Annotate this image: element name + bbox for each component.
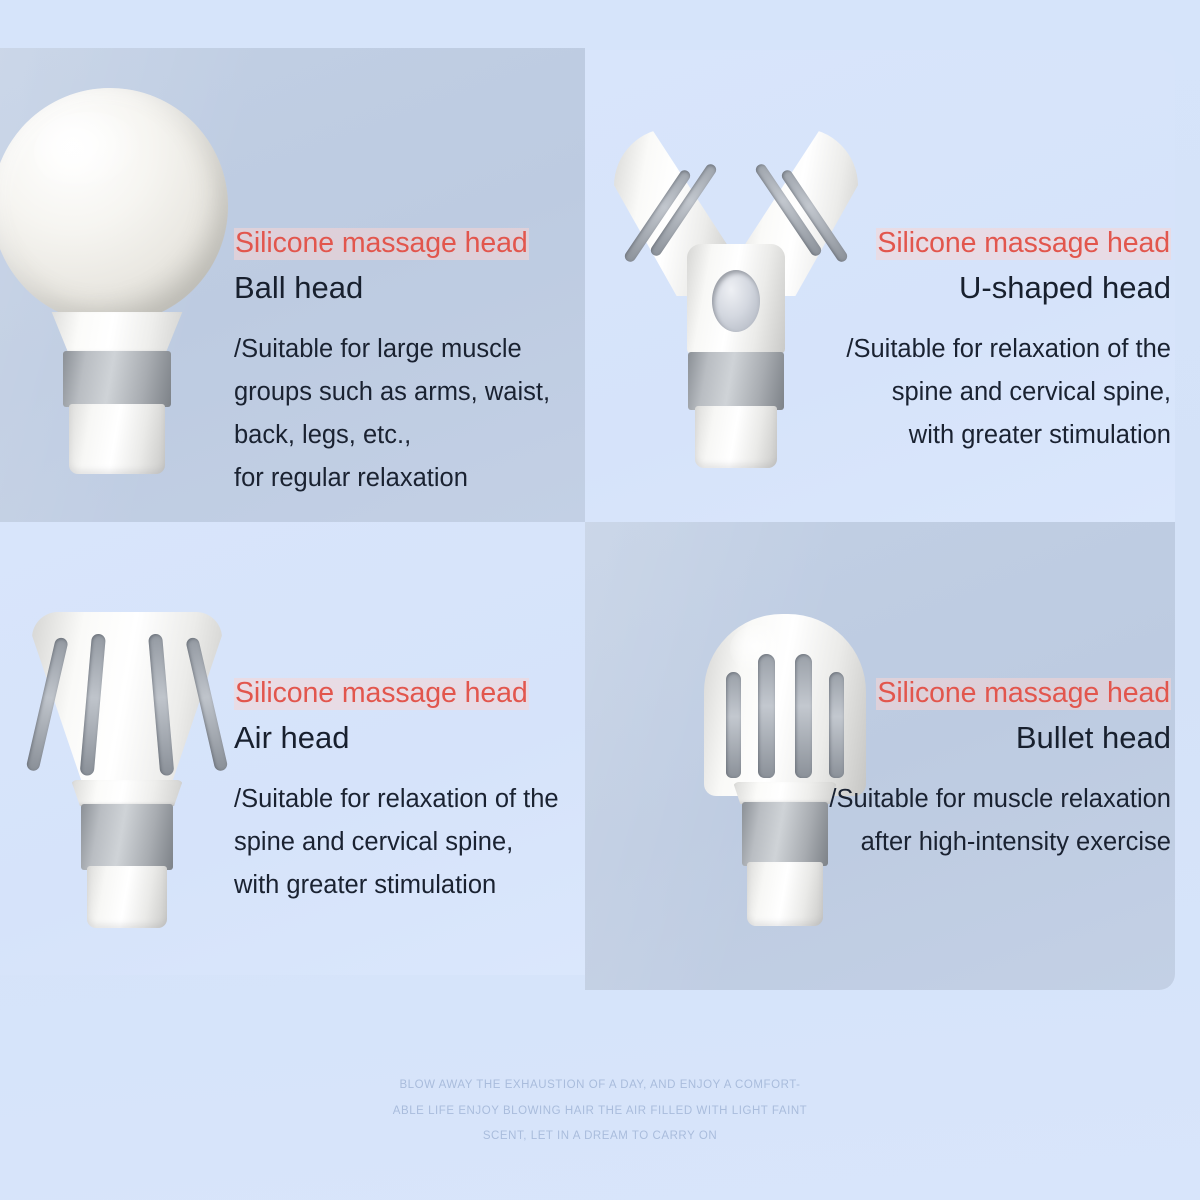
- description-line: /Suitable for relaxation of the: [585, 328, 1171, 371]
- head-name-air: Air head: [234, 719, 559, 756]
- air-grey-ring-shape: [81, 804, 173, 870]
- description-line: spine and cervical spine,: [585, 371, 1171, 414]
- description-line: back, legs, etc.,: [234, 414, 550, 457]
- description-line: /Suitable for large muscle: [234, 328, 550, 371]
- footer-tagline: BLOW AWAY THE EXHAUSTION OF A DAY, AND E…: [0, 1073, 1200, 1150]
- product-infographic: Silicone massage head Ball head /Suitabl…: [0, 0, 1200, 1200]
- air-body-shape: [32, 612, 222, 792]
- kicker-u-shaped: Silicone massage head: [876, 228, 1171, 260]
- description-ball: /Suitable for large muscle groups such a…: [234, 328, 550, 499]
- text-block-ball: Silicone massage head Ball head /Suitabl…: [234, 228, 550, 499]
- bullet-barrel-shape: [747, 862, 823, 926]
- kicker-ball: Silicone massage head: [234, 228, 529, 260]
- ball-collar-shape: [46, 312, 188, 354]
- description-air: /Suitable for relaxation of the spine an…: [234, 778, 559, 906]
- description-line: /Suitable for muscle relaxation: [585, 778, 1171, 821]
- text-block-air: Silicone massage head Air head /Suitable…: [234, 678, 559, 907]
- ball-barrel-shape: [69, 404, 165, 474]
- ball-grey-ring-shape: [63, 351, 171, 407]
- air-barrel-shape: [87, 866, 167, 928]
- description-line: groups such as arms, waist,: [234, 371, 550, 414]
- description-line: spine and cervical spine,: [234, 821, 559, 864]
- head-name-ball: Ball head: [234, 269, 550, 306]
- text-block-bullet: Silicone massage head Bullet head /Suita…: [585, 678, 1185, 864]
- description-line: with greater stimulation: [234, 864, 559, 907]
- description-line: with greater stimulation: [585, 414, 1171, 457]
- text-block-u-shaped: Silicone massage head U-shaped head /Sui…: [585, 228, 1183, 457]
- ball-sphere-shape: [0, 88, 228, 324]
- description-bullet: /Suitable for muscle relaxation after hi…: [585, 778, 1171, 864]
- head-name-bullet: Bullet head: [585, 719, 1171, 756]
- description-line: for regular relaxation: [234, 457, 550, 500]
- kicker-air: Silicone massage head: [234, 678, 529, 710]
- footer-line: ABLE LIFE ENJOY BLOWING HAIR THE AIR FIL…: [0, 1099, 1200, 1125]
- massage-head-air-icon: [32, 612, 222, 902]
- head-name-u-shaped: U-shaped head: [585, 269, 1171, 306]
- footer-line: SCENT, LET IN A DREAM TO CARRY ON: [0, 1124, 1200, 1150]
- air-collar-shape: [71, 780, 183, 806]
- footer-line: BLOW AWAY THE EXHAUSTION OF A DAY, AND E…: [0, 1073, 1200, 1099]
- description-u-shaped: /Suitable for relaxation of the spine an…: [585, 328, 1171, 456]
- kicker-bullet: Silicone massage head: [876, 678, 1171, 710]
- description-line: after high-intensity exercise: [585, 821, 1171, 864]
- description-line: /Suitable for relaxation of the: [234, 778, 559, 821]
- massage-head-ball-icon: [0, 88, 242, 428]
